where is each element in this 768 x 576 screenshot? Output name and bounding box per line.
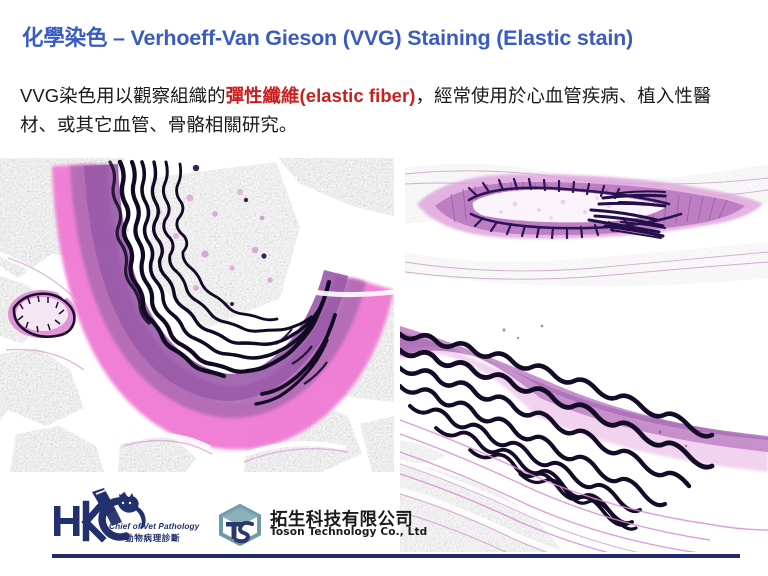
logo-hkc-text-zh: 動物病理診斷 [125,532,180,544]
logo-toson: 拓生科技有限公司 Toson Technology Co., Ltd [216,504,406,548]
vvg-micrograph-vessel-lens [405,158,768,290]
logo-hkc: Chief of Vet Pathology 動物病理診斷 [52,488,202,550]
footer-divider [52,554,740,558]
logo-hkc-text-en: Chief of Vet Pathology [109,521,199,531]
body-highlight-text: 彈性纖維(elastic fiber) [226,85,416,106]
figure-left [0,158,394,472]
logo-toson-text-en: Toson Technology Co., Ltd [270,526,427,538]
body-paragraph: VVG染色用以觀察組織的彈性纖維(elastic fiber)，經常使用於心血管… [20,82,746,139]
body-lead-text: VVG染色用以觀察組織的 [20,85,226,106]
page-title: 化學染色 – Verhoeff-Van Gieson (VVG) Stainin… [22,26,752,52]
vvg-micrograph-elastic-lamellae-band [400,312,768,552]
figure-right-bottom [400,312,768,552]
vvg-micrograph-artery-u-shaped [0,158,394,472]
figure-right-top [405,158,768,290]
hexagon-ts-icon [216,504,264,546]
slide-canvas: 化學染色 – Verhoeff-Van Gieson (VVG) Stainin… [0,0,768,576]
